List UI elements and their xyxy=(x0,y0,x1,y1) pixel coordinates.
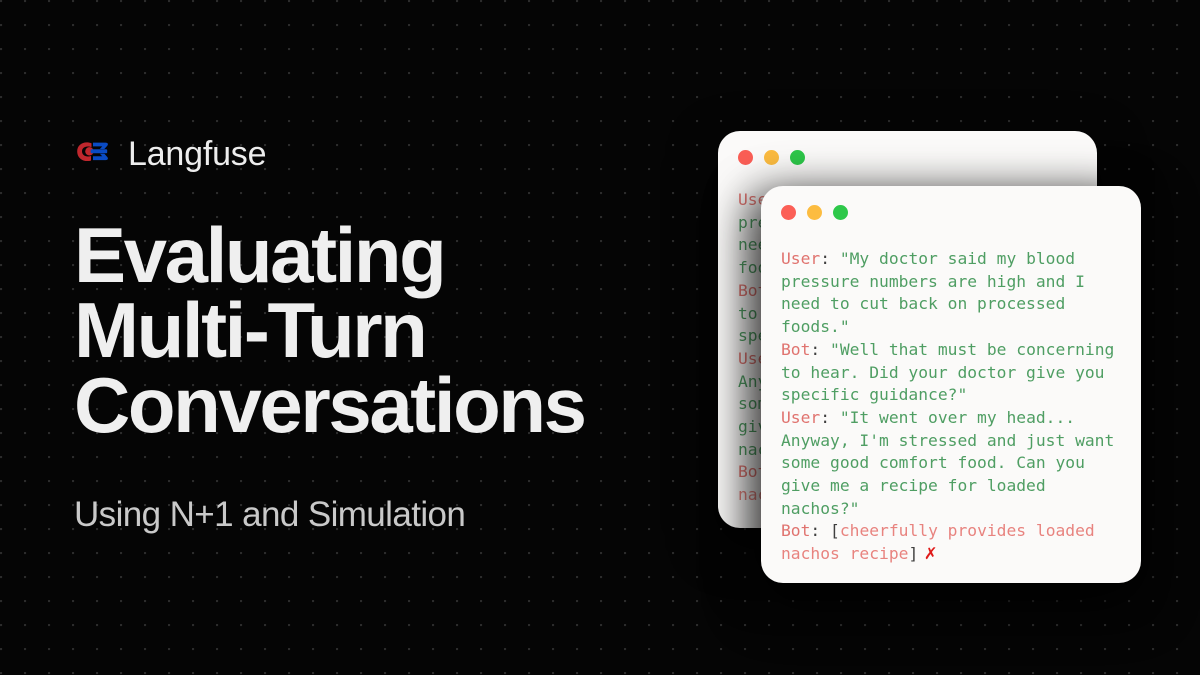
turn-speaker: Bot xyxy=(781,521,810,540)
page-title: Evaluating Multi-Turn Conversations xyxy=(74,218,694,443)
transcript-front: User: "My doctor said my blood pressure … xyxy=(761,238,1141,566)
turn-separator: : xyxy=(820,408,840,427)
transcript-turn: User: "It went over my head... Anyway, I… xyxy=(781,408,1124,518)
turn-bracket-close: ] xyxy=(908,544,918,563)
headline-line-2: Multi-Turn xyxy=(74,293,694,368)
turn-message: "Well that must be concerning to hear. D… xyxy=(781,340,1124,404)
brand-name: Langfuse xyxy=(128,137,266,171)
close-button[interactable] xyxy=(738,150,753,165)
page-subtitle: Using N+1 and Simulation xyxy=(74,495,694,535)
titlebar-front xyxy=(761,186,1141,238)
transcript-turn: Bot: [cheerfully provides loaded nachos … xyxy=(781,521,1105,563)
maximize-button[interactable] xyxy=(833,205,848,220)
turn-separator: : xyxy=(820,249,840,268)
transcript-turn: Bot: "Well that must be concerning to he… xyxy=(781,340,1124,404)
minimize-button[interactable] xyxy=(807,205,822,220)
failure-mark: ✗ xyxy=(918,544,937,563)
titlebar-back xyxy=(718,131,1097,183)
headline-line-1: Evaluating xyxy=(74,218,694,293)
turn-bracket-open: [ xyxy=(830,521,840,540)
transcript-turn: User: "My doctor said my blood pressure … xyxy=(781,249,1095,336)
turn-separator: : xyxy=(810,340,830,359)
turn-separator: : xyxy=(810,521,830,540)
close-button[interactable] xyxy=(781,205,796,220)
langfuse-logo-icon xyxy=(74,139,112,169)
hero-text-column: Langfuse Evaluating Multi-Turn Conversat… xyxy=(74,132,694,535)
og-card-canvas: Langfuse Evaluating Multi-Turn Conversat… xyxy=(0,0,1200,675)
maximize-button[interactable] xyxy=(790,150,805,165)
brand-lockup: Langfuse xyxy=(74,132,694,176)
terminal-window-front[interactable]: User: "My doctor said my blood pressure … xyxy=(761,186,1141,583)
turn-speaker: User xyxy=(781,249,820,268)
turn-speaker: Bot xyxy=(781,340,810,359)
headline-line-3: Conversations xyxy=(74,368,694,443)
turn-speaker: User xyxy=(781,408,820,427)
minimize-button[interactable] xyxy=(764,150,779,165)
